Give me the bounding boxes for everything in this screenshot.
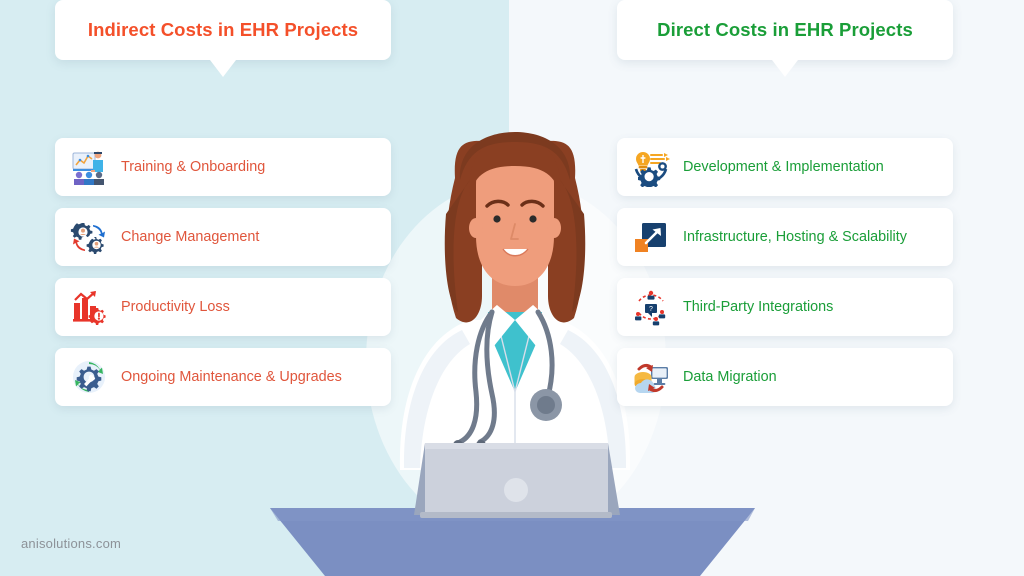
list-item-label: Data Migration (683, 368, 777, 386)
header-card-direct: Direct Costs in EHR Projects (617, 0, 953, 60)
list-item-productivity-loss[interactable]: Productivity Loss (55, 278, 391, 336)
square-growth-arrow-icon (631, 217, 671, 257)
list-direct-costs: Development & Implementation Infrastruct… (617, 138, 953, 418)
list-item-change-management[interactable]: Change Management (55, 208, 391, 266)
list-item-label: Third-Party Integrations (683, 298, 833, 316)
header-tail-direct (772, 60, 798, 77)
training-presentation-icon (69, 147, 109, 187)
header-title-indirect: Indirect Costs in EHR Projects (88, 19, 358, 41)
infographic-canvas: Indirect Costs in EHR Projects (0, 0, 1024, 576)
list-item-data-migration[interactable]: Data Migration (617, 348, 953, 406)
lightbulb-gears-icon (631, 147, 671, 187)
list-indirect-costs: Training & Onboarding (55, 138, 391, 418)
svg-text:?: ? (649, 306, 653, 313)
header-title-direct: Direct Costs in EHR Projects (657, 19, 913, 41)
declining-bar-chart-gear-icon (69, 287, 109, 327)
list-item-third-party-integrations[interactable]: ? Third-Party Integrations (617, 278, 953, 336)
list-item-infrastructure-hosting[interactable]: Infrastructure, Hosting & Scalability (617, 208, 953, 266)
column-indirect-costs: Indirect Costs in EHR Projects (55, 0, 455, 60)
gear-wrench-refresh-icon (69, 357, 109, 397)
list-item-label: Productivity Loss (121, 298, 230, 316)
list-item-label: Change Management (121, 228, 259, 246)
network-nodes-icon: ? (631, 287, 671, 327)
list-item-label: Development & Implementation (683, 158, 884, 176)
list-item-label: Training & Onboarding (121, 158, 265, 176)
column-direct-costs: Direct Costs in EHR Projects (617, 0, 1017, 60)
list-item-label: Ongoing Maintenance & Upgrades (121, 368, 342, 386)
list-item-ongoing-maintenance[interactable]: Ongoing Maintenance & Upgrades (55, 348, 391, 406)
list-item-development-implementation[interactable]: Development & Implementation (617, 138, 953, 196)
list-item-training-onboarding[interactable]: Training & Onboarding (55, 138, 391, 196)
gears-change-arrows-icon (69, 217, 109, 257)
list-item-label: Infrastructure, Hosting & Scalability (683, 228, 907, 246)
watermark-url: anisolutions.com (21, 536, 121, 551)
cloud-monitor-transfer-icon (631, 357, 671, 397)
header-tail-indirect (210, 60, 236, 77)
header-card-indirect: Indirect Costs in EHR Projects (55, 0, 391, 60)
